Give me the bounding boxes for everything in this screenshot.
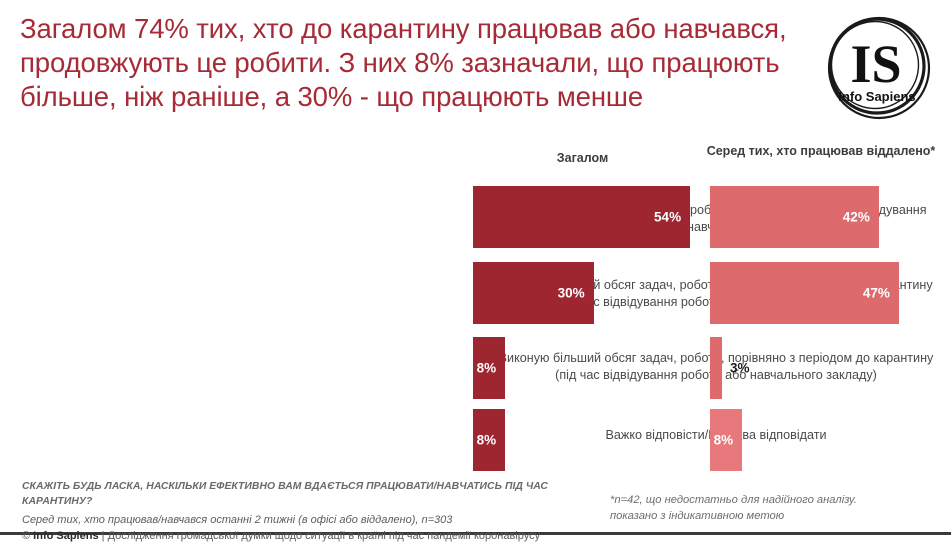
bar-value-label: 8% <box>477 433 497 448</box>
footer-base: Серед тих, хто працював/навчався останні… <box>22 512 612 528</box>
bar-value-label: 30% <box>558 286 585 301</box>
bar-remote-3[interactable]: 8% <box>710 409 742 471</box>
source-separator: | <box>102 530 105 542</box>
bar-value-label: 54% <box>654 210 681 225</box>
bar-total-1[interactable]: 30% <box>473 262 594 324</box>
bar-total-2[interactable]: 8% <box>473 337 505 399</box>
bar-value-label: 8% <box>714 433 734 448</box>
bar-remote-0[interactable]: 42% <box>710 186 879 248</box>
footer-note-line2: показано з індикативною метою <box>610 508 945 524</box>
footer-note: *n=42, що недостатньо для надійного анал… <box>610 492 945 524</box>
bar-value-label: 42% <box>843 210 870 225</box>
bar-chart-plot: Виконую такий же обсяг задач, роботи, як… <box>0 0 951 535</box>
bar-total-0[interactable]: 54% <box>473 186 690 248</box>
source-description: Дослідження громадської думки щодо ситуа… <box>108 530 541 542</box>
bar-value-label: 3% <box>730 361 750 376</box>
copyright-icon: © <box>22 530 30 542</box>
footer-question: СКАЖІТЬ БУДЬ ЛАСКА, НАСКІЛЬКИ ЕФЕКТИВНО … <box>22 479 612 509</box>
chart-page: Загалом 74% тих, хто до карантину працюв… <box>0 0 951 535</box>
footer-note-line1: *n=42, що недостатньо для надійного анал… <box>610 492 945 508</box>
source-name: Info Sapiens <box>33 530 98 542</box>
bar-remote-2[interactable]: 3% <box>710 337 722 399</box>
footer-left: СКАЖІТЬ БУДЬ ЛАСКА, НАСКІЛЬКИ ЕФЕКТИВНО … <box>22 479 612 544</box>
bar-value-label: 47% <box>863 286 890 301</box>
footer-source: © Info Sapiens | Дослідження громадської… <box>22 528 612 544</box>
bar-total-3[interactable]: 8% <box>473 409 505 471</box>
bar-value-label: 8% <box>477 361 497 376</box>
bar-remote-1[interactable]: 47% <box>710 262 899 324</box>
